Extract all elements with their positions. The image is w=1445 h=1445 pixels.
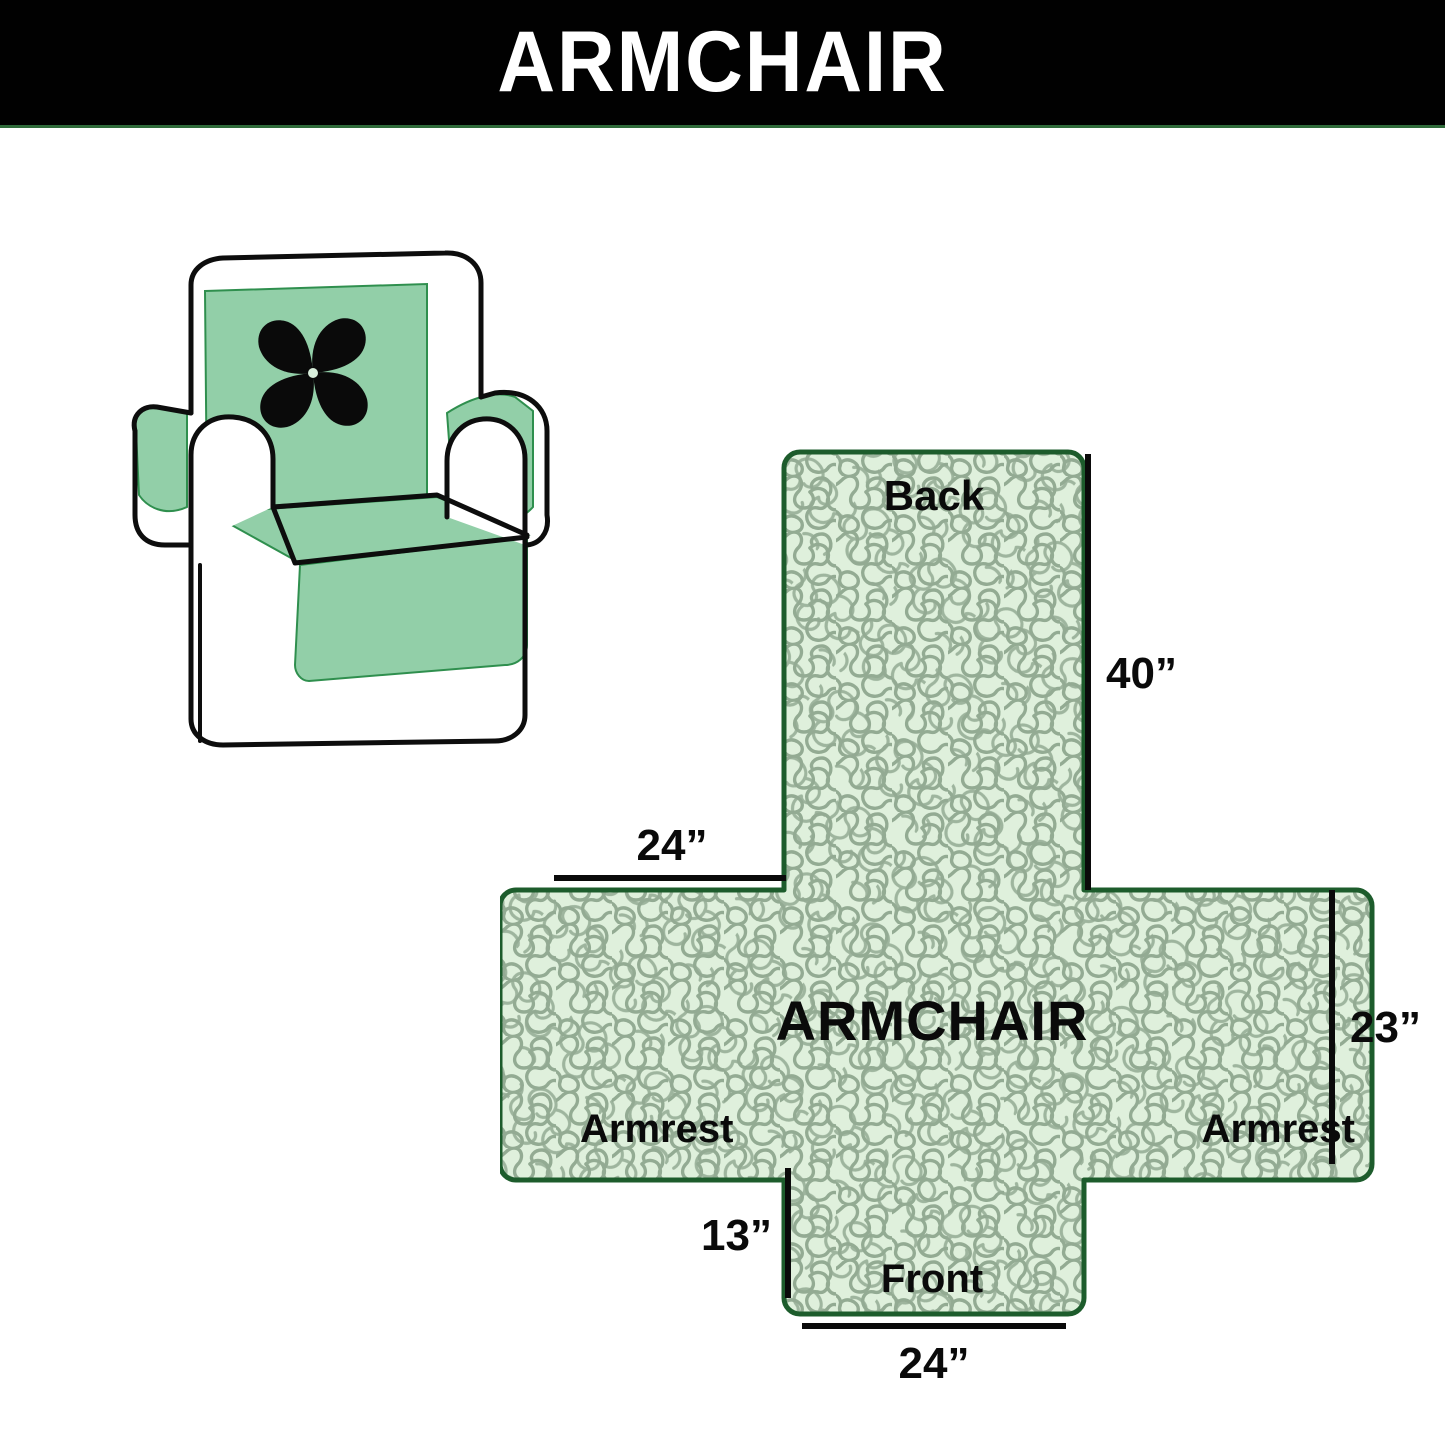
dimension-back-height-label: 40” <box>1106 649 1177 698</box>
dimension-armrest-height-label: 23” <box>1350 1003 1421 1052</box>
dimension-armrest-width: 24” <box>554 821 786 878</box>
panel-label-back: Back <box>884 472 985 519</box>
dimension-front-width: 24” <box>802 1326 1066 1388</box>
panel-label-armrest-left: Armrest <box>580 1107 733 1151</box>
dimension-front-width-label: 24” <box>899 1339 970 1388</box>
page-title: ARMCHAIR <box>51 0 1395 125</box>
armchair-size-guide-page: ARMCHAIR <box>0 0 1445 1445</box>
header-banner: ARMCHAIR <box>0 0 1445 128</box>
dimension-front-height: 13” <box>701 1168 788 1298</box>
panel-label-front: Front <box>881 1257 983 1301</box>
dimension-front-height-label: 13” <box>701 1211 772 1260</box>
slipcover-pattern-diagram: Back ARMCHAIR Armrest Armrest Front 40” … <box>500 420 1445 1430</box>
diagram-center-label: ARMCHAIR <box>776 989 1089 1052</box>
dimension-armrest-width-label: 24” <box>637 821 708 870</box>
dimension-back-height: 40” <box>1088 454 1177 890</box>
